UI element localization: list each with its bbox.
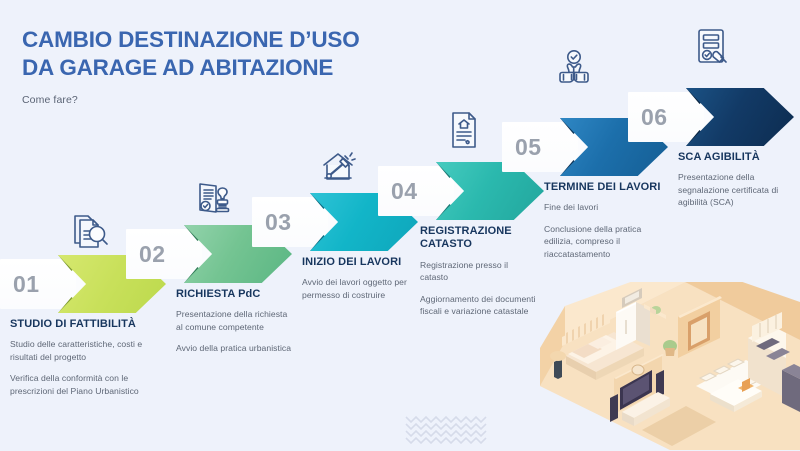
header: CAMBIO DESTINAZIONE D’USO DA GARAGE AD A… (22, 26, 442, 106)
step-05-title: TERMINE DEI LAVORI (544, 181, 666, 194)
step-06-text: SCA AGIBILITÀ Presentazione della segnal… (678, 151, 796, 218)
step-04-paragraph-1: Registrazione presso il catasto (420, 259, 538, 284)
step-05-number-plate: 05 (502, 122, 578, 172)
step-01-text: STUDIO DI FATTIBILITÀ Studio delle carat… (10, 318, 160, 406)
zigzag-pattern (404, 412, 500, 446)
house-hammer-icon (314, 143, 362, 191)
step-03-number-plate: 03 (252, 197, 328, 247)
house-document-icon (440, 106, 488, 154)
step-05-number: 05 (515, 134, 542, 161)
step-06-number: 06 (641, 104, 668, 131)
step-02-number: 02 (139, 241, 166, 268)
step-02-paragraph-2: Avvio della pratica urbanistica (176, 342, 296, 354)
step-01-number-plate: 01 (0, 259, 76, 309)
step-01-paragraph-2: Verifica della conformità con le prescri… (10, 372, 160, 397)
document-stamp-icon (188, 175, 236, 223)
documents-magnifier-icon (64, 207, 112, 255)
step-02-text: RICHIESTA PdC Presentazione della richie… (176, 288, 296, 364)
step-03-paragraph-1: Avvio dei lavori oggetto per permesso di… (302, 276, 424, 301)
step-01-title: STUDIO DI FATTIBILITÀ (10, 318, 160, 331)
step-02-paragraph-1: Presentazione della richiesta al comune … (176, 308, 296, 333)
step-05-paragraph-1: Fine dei lavori (544, 201, 666, 213)
step-01-number: 01 (13, 271, 40, 298)
step-03-number: 03 (265, 209, 292, 236)
certificate-hand-icon (688, 24, 736, 72)
step-04-title: REGISTRAZIONE CATASTO (420, 225, 538, 252)
step-01-paragraph-1: Studio delle caratteristiche, costi e ri… (10, 338, 160, 363)
step-06-paragraph-1: Presentazione della segnalazione certifi… (678, 171, 796, 208)
step-06-title: SCA AGIBILITÀ (678, 151, 796, 164)
step-03-text: INIZIO DEI LAVORI Avvio dei lavori ogget… (302, 256, 424, 310)
step-04-number-plate: 04 (378, 166, 454, 216)
step-04-number: 04 (391, 178, 418, 205)
isometric-apartment-illustration (510, 282, 800, 450)
step-05-text: TERMINE DEI LAVORI Fine dei lavori Concl… (544, 181, 666, 269)
step-06[interactable]: 06 SCA AGIBILITÀ Presentazione della seg… (628, 88, 800, 146)
page-subtitle: Come fare? (22, 94, 442, 106)
step-06-number-plate: 06 (628, 92, 704, 142)
step-02-number-plate: 02 (126, 229, 202, 279)
thumbs-up-check-icon (550, 46, 598, 94)
step-06-arrow: 06 (628, 88, 800, 146)
page-title: CAMBIO DESTINAZIONE D’USO DA GARAGE AD A… (22, 26, 442, 83)
step-05-paragraph-2: Conclusione della pratica edilizia, comp… (544, 223, 666, 260)
step-03-title: INIZIO DEI LAVORI (302, 256, 424, 269)
step-02-title: RICHIESTA PdC (176, 288, 296, 301)
